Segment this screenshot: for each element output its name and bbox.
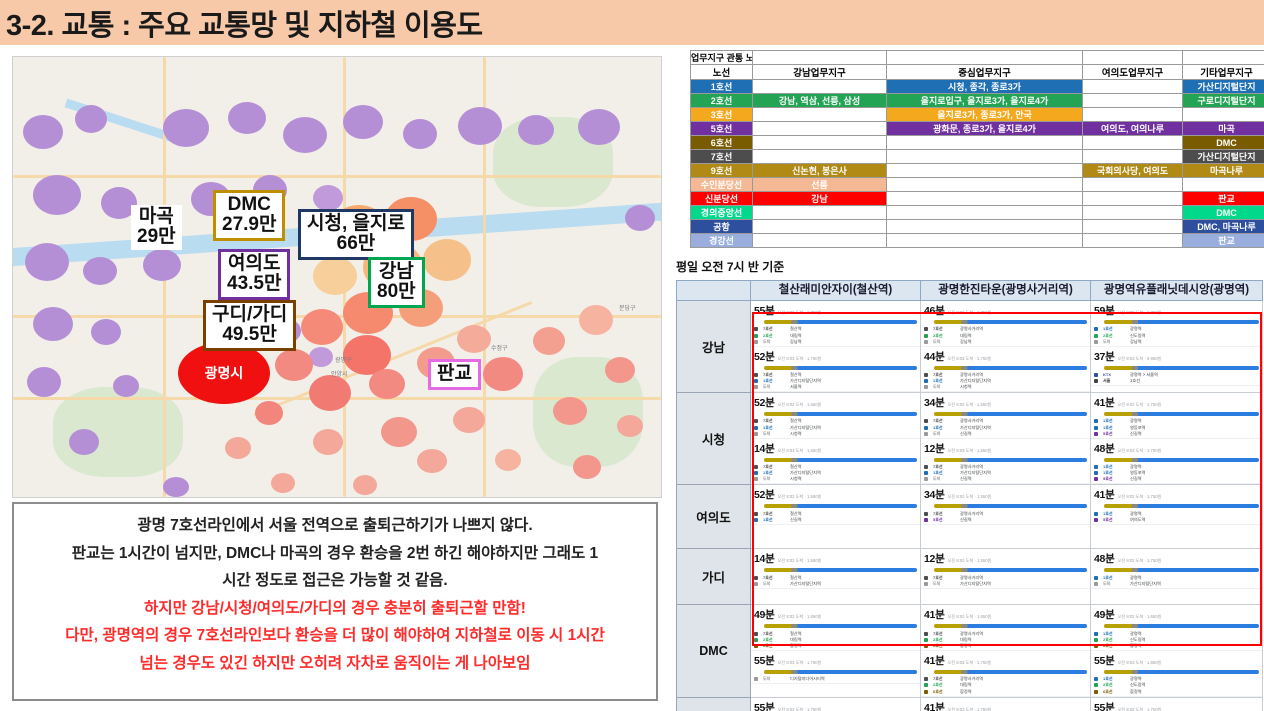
heat-blob — [271, 473, 295, 493]
transit-leg: 5호선여의도역 — [1094, 517, 1259, 523]
transit-route-bar — [764, 458, 917, 462]
transit-line-name: 1호선 — [763, 517, 785, 523]
transit-result[interactable]: 59분오전 8:02 도착 · 1,750원1호선광명역2호선신도림역도착강남역 — [1091, 301, 1262, 347]
route-destination-label: 강남 — [677, 301, 751, 393]
central-district-cell: 을지로3가, 종로3가, 안국 — [887, 108, 1083, 122]
yeouido-district-cell — [1083, 136, 1183, 150]
transit-line-name: 5호선 — [1103, 431, 1125, 437]
transit-station-name: 강남역 — [960, 339, 972, 345]
transit-leg: 도착신길역 — [924, 476, 1087, 482]
transit-duration: 46분 — [924, 303, 944, 318]
transit-result[interactable]: 55분오전 8:02 도착 · 1,750원7호선철산역2호선대림역도착강남역 — [751, 301, 920, 347]
transit-duration: 52분 — [754, 487, 774, 502]
heat-blob — [483, 357, 523, 391]
transit-legs: 도착디지털미디어시티역 — [754, 676, 917, 682]
transit-result[interactable]: 55분오전 8:03 도착 · 1,750원도착디지털미디어시티역 — [751, 651, 920, 684]
transit-result[interactable]: 52분오전 8:02 도착 · 1,550원7호선철산역1호선신길역 — [751, 485, 920, 524]
gangnam-district-cell — [753, 122, 887, 136]
line-color-dot — [924, 334, 928, 338]
line-table-column-header: 강남업무지구 — [753, 65, 887, 80]
route-result-cell-1[interactable]: 12분오전 8:02 도착 · 1,550원7호선광명사거리역도착가산디지털단지… — [921, 549, 1091, 605]
route-result-cell-2[interactable]: 41분오전 8:02 도착 · 1,750원1호선광명역5호선여의도역 — [1091, 485, 1263, 549]
subway-line-table: 업무지구 관통 노선 및 지하철역노선강남업무지구중심업무지구여의도업무지구기타… — [690, 50, 1264, 248]
line-color-dot — [924, 327, 928, 331]
transit-leg: 5호선신길역 — [924, 517, 1087, 523]
transit-station-name: 1호선 — [1130, 378, 1140, 384]
transit-route-bar — [1104, 670, 1259, 674]
callout-value: 80만 — [377, 282, 416, 302]
etc-district-cell: 마곡나루 — [1183, 164, 1264, 178]
transit-station-name: 대림역 — [790, 333, 802, 339]
etc-district-cell: 마곡 — [1183, 122, 1264, 136]
transit-legs: 1호선광명역1호선영등포역5호선신길역 — [1094, 418, 1259, 437]
transit-station-name: 광명사거리역 — [960, 575, 983, 581]
line-table-caption: 업무지구 관통 노선 및 지하철역 — [691, 51, 753, 65]
heat-blob — [417, 449, 447, 473]
heat-blob — [353, 475, 377, 495]
line-color-dot — [754, 426, 758, 430]
transit-result[interactable]: 49분오전 8:02 도착 · 1,650원7호선철산역2호선대림역6호선합정역 — [751, 605, 920, 651]
heat-blob — [495, 449, 521, 471]
route-result-cell-1[interactable]: 41분오전 8:02 도착 · 1,650원7호선광명사거리역2호선대림역6호선… — [921, 605, 1091, 697]
line-color-dot — [924, 426, 928, 430]
transit-legs: 7호선철산역1호선가산디지털단지역도착시청역 — [754, 418, 917, 437]
line-color-dot — [924, 471, 928, 475]
heat-blob — [163, 109, 209, 147]
line-name-cell: 9호선 — [691, 164, 753, 178]
subway-usage-map[interactable]: 광명구 안양시 수정구 분당구 광명시 마곡 29만 DMC 27.9만 시청,… — [12, 56, 662, 498]
line-color-dot — [1094, 334, 1098, 338]
gangnam-district-cell: 선릉 — [753, 178, 887, 192]
transit-duration: 12분 — [924, 441, 944, 456]
line-color-dot — [1094, 690, 1098, 694]
transit-line-name: 6호선 — [933, 689, 955, 695]
yeouido-district-cell — [1083, 220, 1183, 234]
line-color-dot — [924, 632, 928, 636]
line-color-dot — [754, 644, 758, 648]
transit-result[interactable]: 41분오전 8:02 도착 · 1,750원1호선광명역1호선영등포역5호선신길… — [1091, 393, 1262, 439]
line-color-dot — [754, 385, 758, 389]
transit-line-name: 도착 — [1103, 339, 1125, 345]
transit-fare: 오전 8:02 도착 · 1,750원 — [777, 707, 821, 711]
transit-fare: 오전 8:03 도착 · 1,750원 — [947, 660, 991, 666]
note-line-highlight: 넘는 경우도 있긴 하지만 오히려 자차로 움직이는 게 나아보임 — [14, 650, 656, 678]
transit-station-name: 시청역 — [790, 476, 802, 482]
transit-station-name: 대림역 — [790, 637, 802, 643]
line-color-dot — [1094, 518, 1098, 522]
transit-fare: 오전 8:02 도착 · 1,750원 — [947, 707, 991, 711]
route-result-cell-0[interactable]: 52분오전 8:02 도착 · 1,550원7호선철산역1호선가산디지털단지역도… — [751, 393, 921, 485]
line-color-dot — [1094, 426, 1098, 430]
line-name-cell: 신분당선 — [691, 192, 753, 206]
route-table-subnote: 평일 오전 7시 반 기준 — [676, 258, 784, 275]
heat-blob — [75, 105, 107, 133]
transit-result[interactable]: 34분오전 8:02 도착 · 1,550원7호선광명사거리역5호선신길역 — [921, 485, 1090, 524]
transit-result[interactable]: 12분오전 8:02 도착 · 1,550원7호선광명사거리역도착가산디지털단지… — [921, 549, 1090, 588]
map-callout-cityhall[interactable]: 시청, 을지로 66만 — [298, 209, 414, 260]
route-table-row: 시청52분오전 8:02 도착 · 1,550원7호선철산역1호선가산디지털단지… — [677, 393, 1263, 485]
transit-station-name: 시청역 — [960, 384, 972, 390]
heat-blob — [343, 105, 383, 139]
route-result-cell-1[interactable]: 46분오전 8:02 도착 · 1,750원7호선광명사거리역2호선대림역도착강… — [921, 301, 1091, 393]
transit-duration: 41분 — [1094, 487, 1114, 502]
transit-legs: 7호선광명사거리역1호선가산디지털단지역도착시청역 — [924, 372, 1087, 391]
heat-blob — [313, 257, 357, 295]
heat-blob — [113, 375, 139, 397]
transit-result[interactable]: 14분오전 8:02 도착 · 1,550원7호선철산역도착가산디지털단지역 — [751, 549, 920, 588]
transit-duration: 59분 — [1094, 303, 1114, 318]
gangnam-district-cell: 강남, 역삼, 선릉, 삼성 — [753, 94, 887, 108]
transit-leg: 서울1호선 — [1094, 378, 1259, 384]
transit-legs: 7호선철산역2호선대림역6호선합정역 — [754, 630, 917, 649]
line-name-cell: 수인분당선 — [691, 178, 753, 192]
transit-leg: 도착시청역 — [924, 384, 1087, 390]
transit-line-name: 7호선 — [763, 631, 785, 637]
transit-result[interactable]: 48분오전 8:03 도착 · 1,750원1호선광명역1호선영등포역5호선신길… — [1091, 439, 1262, 485]
callout-label: DMC — [222, 195, 276, 215]
line-color-dot — [924, 477, 928, 481]
heat-blob — [313, 185, 343, 211]
transit-line-name: 도착 — [763, 431, 785, 437]
transit-legs: 7호선철산역1호선가산디지털단지역도착시청역 — [754, 464, 917, 483]
transit-result[interactable]: 49분오전 8:02 도착 · 1,650원1호선광명역2호선신도림역6호선합정… — [1091, 605, 1262, 651]
transit-station-name: 신도림역 — [1130, 682, 1145, 688]
transit-duration: 14분 — [754, 441, 774, 456]
transit-route-bar — [934, 320, 1087, 324]
transit-result[interactable]: 46분오전 8:02 도착 · 1,750원7호선광명사거리역2호선대림역도착강… — [921, 301, 1090, 347]
transit-route-bar — [1104, 568, 1259, 572]
transit-result[interactable]: 48분오전 8:02 도착 · 1,750원1호선광명역도착가산디지털단지역 — [1091, 549, 1262, 588]
transit-fare: 오전 8:02 도착 · 1,550원 — [777, 402, 821, 408]
line-color-dot — [754, 373, 758, 377]
transit-legs: 1호선광명역2호선신도림역도착강남역 — [1094, 326, 1259, 345]
yeouido-district-cell: 여의도, 여의나루 — [1083, 122, 1183, 136]
line-table-row: 9호선신논현, 봉은사국회의사당, 여의도마곡나루 — [691, 164, 1264, 178]
route-table-row: DMC49분오전 8:02 도착 · 1,650원7호선철산역2호선대림역6호선… — [677, 605, 1263, 697]
heat-blob — [457, 325, 491, 353]
transit-legs: KTX광명역 > 서울역서울1호선 — [1094, 372, 1259, 384]
transit-result[interactable]: 52분오전 8:02 도착 · 1,550원7호선철산역1호선가산디지털단지역도… — [751, 393, 920, 439]
etc-district-cell — [1183, 178, 1264, 192]
etc-district-cell: 가산디지털단지 — [1183, 150, 1264, 164]
transit-fare: 오전 8:03 도착 · 1,750원 — [777, 356, 821, 362]
route-table-column-header-1: 철산래미안자이(철산역) — [751, 281, 921, 301]
transit-line-name: 1호선 — [933, 425, 955, 431]
line-color-dot — [1094, 471, 1098, 475]
gangnam-district-cell: 신논현, 봉은사 — [753, 164, 887, 178]
transit-legs: 7호선광명사거리역1호선가산디지털단지역도착신길역 — [924, 418, 1087, 437]
transit-station-name: 광명사거리역 — [960, 631, 983, 637]
transit-route-bar — [764, 504, 917, 508]
transit-result[interactable]: 41분오전 8:02 도착 · 1,750원1호선광명역5호선여의도역 — [1091, 485, 1262, 524]
line-color-dot — [754, 477, 758, 481]
transit-line-name: 7호선 — [763, 575, 785, 581]
transit-duration: 49분 — [1094, 607, 1114, 622]
map-callout-gudi-gadi[interactable]: 구디/가디 49.5만 — [203, 300, 296, 351]
transit-route-bar — [1104, 320, 1259, 324]
transit-legs: 7호선광명사거리역5호선신길역 — [924, 510, 1087, 522]
transit-station-name: 철산역 — [790, 418, 802, 424]
route-result-cell-0[interactable]: 55분오전 8:02 도착 · 1,750원5호선영등포구청역도착마곡역 — [751, 697, 921, 711]
heat-blob — [423, 239, 471, 281]
transit-route-bar — [934, 568, 1087, 572]
transit-fare: 오전 8:03 도착 · 9,950원 — [1117, 356, 1161, 362]
line-color-dot — [754, 327, 758, 331]
gangnam-district-cell — [753, 136, 887, 150]
transit-station-name: 신도림역 — [1130, 333, 1145, 339]
transit-result[interactable]: 55분오전 8:02 도착 · 1,750원5호선영등포구청역도착마곡역 — [751, 698, 920, 711]
transit-line-name: 7호선 — [763, 511, 785, 517]
line-color-dot — [924, 518, 928, 522]
transit-line-name: 6호선 — [933, 643, 955, 649]
etc-district-cell: DMC — [1183, 136, 1264, 150]
route-result-cell-1[interactable]: 34분오전 8:02 도착 · 1,550원7호선광명사거리역1호선가산디지털단… — [921, 393, 1091, 485]
transit-fare: 오전 8:03 도착 · 1,850원 — [1117, 660, 1161, 666]
line-table-row: 신분당선강남판교 — [691, 192, 1264, 206]
line-name-cell: 공항 — [691, 220, 753, 234]
heat-blob — [143, 249, 181, 281]
map-callout-yeouido[interactable]: 여의도 43.5만 — [218, 249, 290, 300]
transit-duration: 52분 — [754, 349, 774, 364]
transit-fare: 오전 8:02 도착 · 1,650원 — [777, 614, 821, 620]
heat-blob — [83, 257, 117, 285]
transit-route-bar — [1104, 624, 1259, 628]
line-color-dot — [924, 638, 928, 642]
transit-leg: 6호선합정역 — [924, 688, 1087, 694]
route-result-cell-0[interactable]: 49분오전 8:02 도착 · 1,650원7호선철산역2호선대림역6호선합정역… — [751, 605, 921, 697]
transit-fare: 오전 8:03 도착 · 1,750원 — [777, 660, 821, 666]
transit-station-name: 신길역 — [1130, 476, 1142, 482]
transit-line-name: 도착 — [763, 384, 785, 390]
heat-blob — [69, 429, 99, 455]
line-color-dot — [754, 632, 758, 636]
transit-leg: 도착디지털미디어시티역 — [754, 676, 917, 682]
route-result-cell-2[interactable]: 41분오전 8:02 도착 · 1,750원1호선광명역1호선영등포역5호선신길… — [1091, 393, 1263, 485]
heat-blob — [369, 369, 405, 399]
central-district-cell: 광화문, 종로3가, 을지로4가 — [887, 122, 1083, 136]
map-callout-pangyo[interactable]: 판교 — [428, 359, 481, 390]
transit-result[interactable]: 44분오전 8:03 도착 · 1,750원7호선광명사거리역1호선가산디지털단… — [921, 347, 1090, 393]
transit-station-name: 광명역 — [1130, 511, 1142, 517]
line-color-dot — [754, 576, 758, 580]
callout-value: 29만 — [137, 227, 176, 247]
route-result-cell-1[interactable]: 34분오전 8:02 도착 · 1,550원7호선광명사거리역5호선신길역 — [921, 485, 1091, 549]
transit-line-name: 도착 — [933, 339, 955, 345]
transit-station-name: 여의도역 — [1130, 517, 1145, 523]
heat-blob — [33, 175, 81, 215]
transit-station-name: 가산디지털단지역 — [960, 425, 991, 431]
transit-line-name: 7호선 — [933, 511, 955, 517]
heat-blob — [255, 401, 283, 425]
line-color-dot — [924, 576, 928, 580]
transit-station-name: 철산역 — [790, 631, 802, 637]
transit-result[interactable]: 37분오전 8:03 도착 · 9,950원KTX광명역 > 서울역서울1호선 — [1091, 347, 1262, 386]
line-table-row: 7호선가산디지털단지 — [691, 150, 1264, 164]
transit-legs: 1호선광명역도착가산디지털단지역 — [1094, 574, 1259, 586]
etc-district-cell: 가산디지털단지 — [1183, 80, 1264, 94]
transit-line-name: 1호선 — [1103, 425, 1125, 431]
line-name-cell: 2호선 — [691, 94, 753, 108]
transit-fare: 오전 8:03 도착 · 1,750원 — [947, 356, 991, 362]
heat-blob — [533, 327, 565, 355]
transit-duration: 48분 — [1094, 551, 1114, 566]
yeouido-district-cell — [1083, 234, 1183, 248]
transit-leg: 도착강남역 — [754, 339, 917, 345]
transit-legs: 1호선광명역2호선신도림역6호선합정역 — [1094, 676, 1259, 695]
transit-duration: 41분 — [1094, 395, 1114, 410]
line-color-dot — [1094, 576, 1098, 580]
yeouido-district-cell — [1083, 94, 1183, 108]
gangnam-district-cell — [753, 234, 887, 248]
transit-line-name: 1호선 — [1103, 575, 1125, 581]
line-name-cell: 경의중앙선 — [691, 206, 753, 220]
etc-district-cell: DMC — [1183, 206, 1264, 220]
transit-line-name: 1호선 — [1103, 418, 1125, 424]
transit-result[interactable]: 55분오전 8:03 도착 · 1,850원1호선광명역2호선신도림역6호선합정… — [1091, 651, 1262, 697]
heat-blob — [163, 477, 189, 497]
title-bar: 3-2. 교통 : 주요 교통망 및 지하철 이용도 — [0, 0, 1264, 45]
transit-fare: 오전 8:02 도착 · 1,750원 — [1117, 707, 1161, 711]
transit-line-name: 도착 — [1103, 581, 1125, 587]
heat-blob — [228, 102, 266, 134]
route-result-cell-2[interactable]: 49분오전 8:02 도착 · 1,650원1호선광명역2호선신도림역6호선합정… — [1091, 605, 1263, 697]
transit-line-name: 6호선 — [1103, 643, 1125, 649]
central-district-cell — [887, 164, 1083, 178]
line-name-cell: 5호선 — [691, 122, 753, 136]
heat-blob — [381, 417, 417, 447]
transit-route-bar — [934, 504, 1087, 508]
transit-leg: 5호선신길역 — [1094, 431, 1259, 437]
transit-result[interactable]: 52분오전 8:03 도착 · 1,750원7호선철산역1호선가산디지털단지역도… — [751, 347, 920, 393]
transit-station-name: 광명사거리역 — [960, 511, 983, 517]
transit-line-name: 7호선 — [933, 575, 955, 581]
transit-fare: 오전 8:02 도착 · 1,550원 — [947, 494, 991, 500]
route-table-row: 여의도52분오전 8:02 도착 · 1,550원7호선철산역1호선신길역34분… — [677, 485, 1263, 549]
transit-line-name: 2호선 — [763, 637, 785, 643]
transit-station-name: 가산디지털단지역 — [790, 425, 821, 431]
map-callout-magok[interactable]: 마곡 29만 — [131, 205, 182, 250]
line-color-dot — [754, 334, 758, 338]
line-table-column-header: 기타업무지구 — [1183, 65, 1264, 80]
map-callout-dmc[interactable]: DMC 27.9만 — [213, 190, 285, 241]
transit-result[interactable]: 41분오전 8:03 도착 · 1,750원7호선광명사거리역2호선대림역6호선… — [921, 651, 1090, 697]
transit-leg: 도착시청역 — [754, 431, 917, 437]
route-table-column-header-3: 광명역유플래닛데시앙(광명역) — [1091, 281, 1263, 301]
line-color-dot — [1094, 465, 1098, 469]
transit-leg: 도착강남역 — [924, 339, 1087, 345]
transit-legs: 7호선광명사거리역2호선대림역6호선합정역 — [924, 630, 1087, 649]
transit-result[interactable]: 41분오전 8:02 도착 · 1,650원7호선광명사거리역2호선대림역6호선… — [921, 605, 1090, 651]
transit-duration: 48분 — [1094, 441, 1114, 456]
route-result-cell-0[interactable]: 52분오전 8:02 도착 · 1,550원7호선철산역1호선신길역 — [751, 485, 921, 549]
line-color-dot — [924, 465, 928, 469]
transit-result[interactable]: 55분오전 8:02 도착 · 1,750원5호선영등포구청역도착마곡역 — [1091, 698, 1262, 711]
transit-station-name: 광명역 — [1130, 631, 1142, 637]
transit-legs: 7호선철산역도착가산디지털단지역 — [754, 574, 917, 586]
heat-blob — [27, 367, 61, 397]
map-region-label: 광명구 — [335, 355, 352, 364]
transit-line-name: 5호선 — [933, 517, 955, 523]
heat-blob — [573, 455, 601, 479]
heat-blob — [275, 349, 313, 381]
etc-district-cell: DMC, 마곡나루 — [1183, 220, 1264, 234]
transit-line-name: 5호선 — [1103, 476, 1125, 482]
transit-legs: 7호선철산역1호선가산디지털단지역도착서울역 — [754, 372, 917, 391]
line-color-dot — [1094, 373, 1098, 377]
line-color-dot — [754, 638, 758, 642]
transit-leg: 6호선합정역 — [924, 643, 1087, 649]
transit-line-name: 7호선 — [933, 631, 955, 637]
line-color-dot — [1094, 677, 1098, 681]
map-callout-gangnam[interactable]: 강남 80만 — [368, 257, 425, 308]
transit-route-bar — [1104, 504, 1259, 508]
transit-legs: 7호선광명사거리역1호선가산디지털단지역도착신길역 — [924, 464, 1087, 483]
note-line-highlight: 다만, 광명역의 경우 7호선라인보다 환승을 더 많이 해야하여 지하철로 이… — [14, 622, 656, 650]
transit-station-name: 대림역 — [960, 682, 972, 688]
central-district-cell — [887, 206, 1083, 220]
route-result-cell-1[interactable]: 41분오전 8:02 도착 · 1,750원5호선김포공항역도착마곡역 — [921, 697, 1091, 711]
transit-fare: 오전 8:03 도착 · 1,550원 — [947, 448, 991, 454]
spacer-cell — [1183, 51, 1264, 65]
transit-route-bar — [1104, 366, 1259, 370]
route-result-cell-0[interactable]: 14분오전 8:02 도착 · 1,550원7호선철산역도착가산디지털단지역 — [751, 549, 921, 605]
transit-legs: 7호선광명사거리역2호선대림역도착강남역 — [924, 326, 1087, 345]
yeouido-district-cell — [1083, 108, 1183, 122]
transit-leg: 6호선합정역 — [1094, 643, 1259, 649]
line-color-dot — [754, 518, 758, 522]
transit-line-name: 5호선 — [1103, 517, 1125, 523]
heat-blob — [33, 307, 73, 341]
route-destination-label: 가디 — [677, 549, 751, 605]
heat-blob — [403, 119, 437, 149]
transit-duration: 34분 — [924, 487, 944, 502]
transit-result[interactable]: 12분오전 8:03 도착 · 1,550원7호선광명사거리역1호선가산디지털단… — [921, 439, 1090, 485]
transit-duration: 52분 — [754, 395, 774, 410]
transit-station-name: 철산역 — [790, 372, 802, 378]
line-color-dot — [754, 677, 758, 681]
route-result-cell-2[interactable]: 55분오전 8:02 도착 · 1,750원5호선영등포구청역도착마곡역 — [1091, 697, 1263, 711]
transit-result[interactable]: 41분오전 8:02 도착 · 1,750원5호선김포공항역도착마곡역 — [921, 698, 1090, 711]
transit-station-name: 합정역 — [1130, 689, 1142, 695]
line-name-cell: 경강선 — [691, 234, 753, 248]
central-district-cell: 시청, 종각, 종로3가 — [887, 80, 1083, 94]
transit-station-name: 광명역 > 서울역 — [1130, 372, 1158, 378]
transit-station-name: 영등포역 — [1130, 425, 1145, 431]
route-result-cell-0[interactable]: 55분오전 8:02 도착 · 1,750원7호선철산역2호선대림역도착강남역5… — [751, 301, 921, 393]
route-table-row: 강남55분오전 8:02 도착 · 1,750원7호선철산역2호선대림역도착강남… — [677, 301, 1263, 393]
spacer-cell — [753, 51, 887, 65]
route-result-cell-2[interactable]: 59분오전 8:02 도착 · 1,750원1호선광명역2호선신도림역도착강남역… — [1091, 301, 1263, 393]
transit-station-name: 시청역 — [790, 431, 802, 437]
line-name-cell: 3호선 — [691, 108, 753, 122]
callout-value: 43.5만 — [227, 274, 281, 294]
transit-line-name: 서울 — [1103, 378, 1125, 384]
origin-badge-gwangmyeong[interactable]: 광명시 — [178, 342, 270, 404]
transit-line-name: 6호선 — [1103, 689, 1125, 695]
transit-line-name: 1호선 — [1103, 326, 1125, 332]
central-district-cell — [887, 220, 1083, 234]
yeouido-district-cell — [1083, 150, 1183, 164]
transit-fare: 오전 8:02 도착 · 1,750원 — [777, 310, 821, 316]
heat-blob — [553, 397, 587, 425]
callout-label: 구디/가디 — [212, 305, 287, 325]
transit-result[interactable]: 14분오전 8:03 도착 · 1,550원7호선철산역1호선가산디지털단지역도… — [751, 439, 920, 485]
transit-route-bar — [764, 670, 917, 674]
route-result-cell-2[interactable]: 48분오전 8:02 도착 · 1,750원1호선광명역도착가산디지털단지역 — [1091, 549, 1263, 605]
callout-value: 66만 — [307, 234, 405, 254]
transit-result[interactable]: 34분오전 8:02 도착 · 1,550원7호선광명사거리역1호선가산디지털단… — [921, 393, 1090, 439]
transit-line-name: 도착 — [763, 339, 785, 345]
